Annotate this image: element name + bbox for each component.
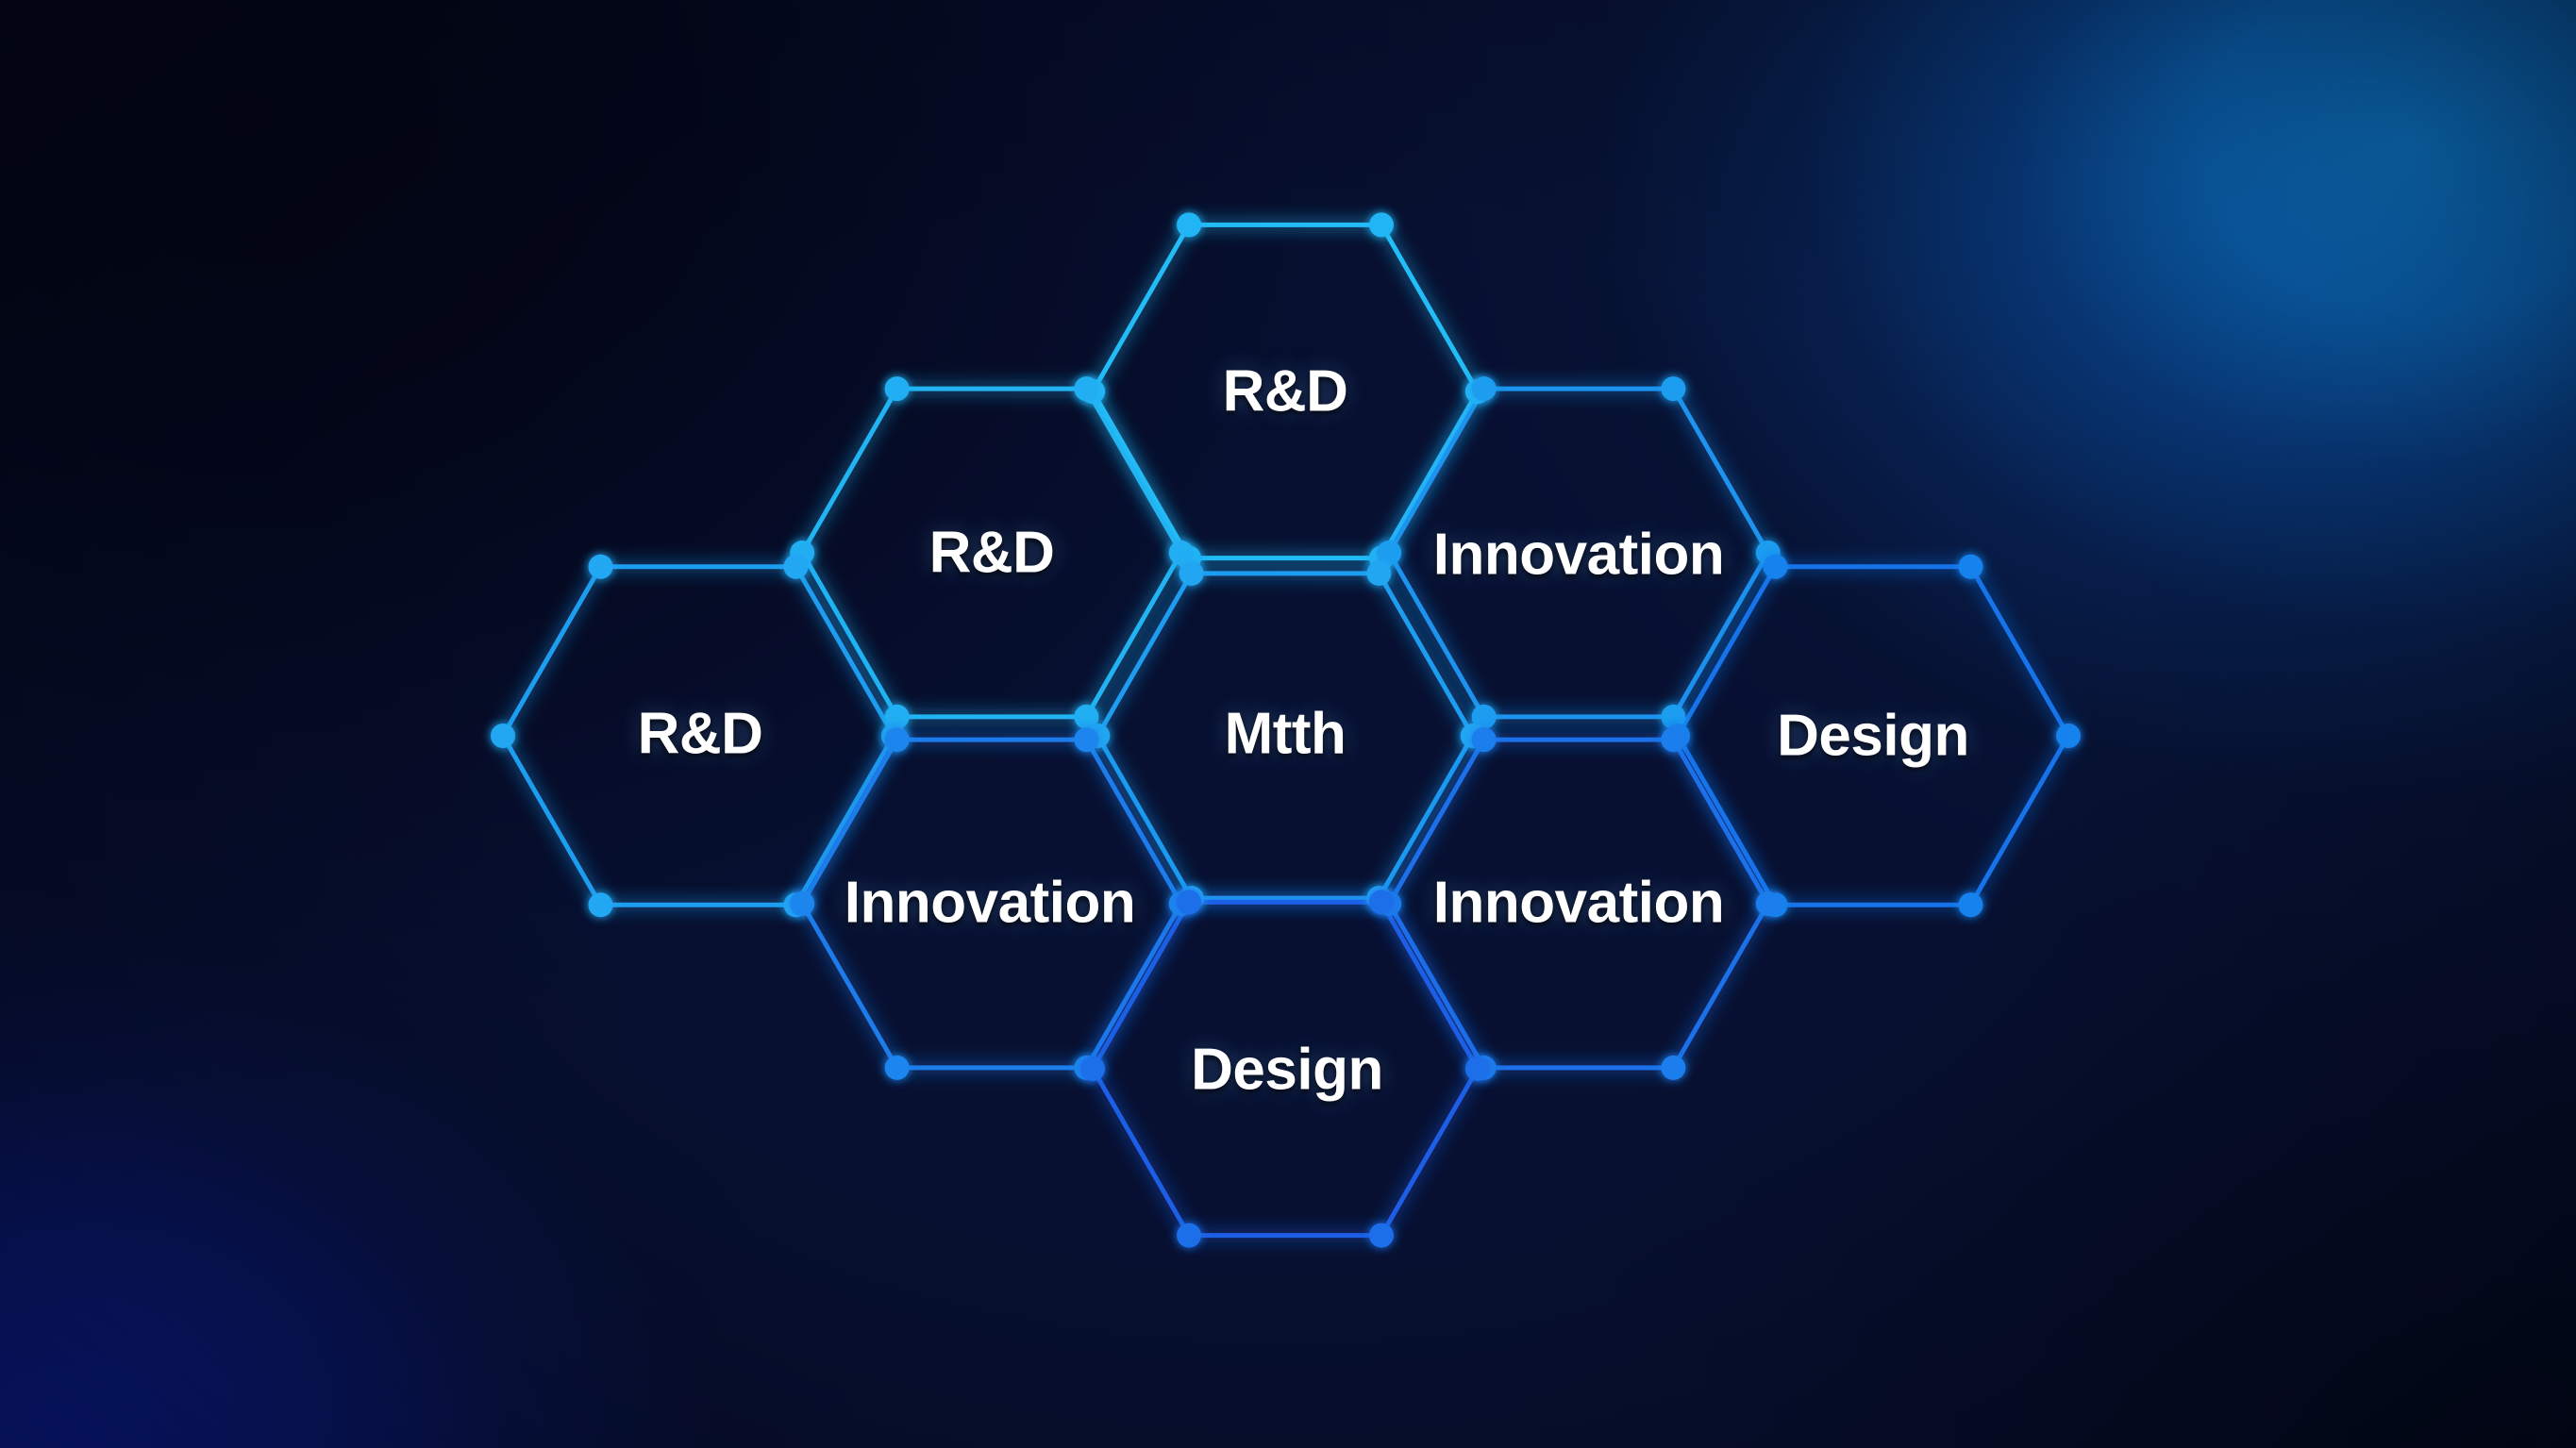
hexagon-vertex-node: [1074, 727, 1098, 752]
hexagon-outline: [1093, 225, 1478, 558]
hexagon-vertex-node: [885, 1056, 910, 1080]
hexagon-vertex-node: [1080, 1057, 1105, 1081]
hexagon-vertex-node: [1366, 561, 1391, 586]
hexagon-vertex-node: [1764, 555, 1788, 579]
hexagon-vertex-node: [1661, 727, 1685, 752]
hexagon-outline: [802, 389, 1181, 717]
hexagon-vertex-node: [1074, 376, 1098, 401]
hexagon-vertex-node: [2056, 724, 2081, 748]
hexagon-vertex-node: [1472, 376, 1497, 401]
hexagon-vertex-node: [589, 555, 613, 579]
hexagon-vertex-node: [1465, 1057, 1490, 1081]
hexagon-network-graphic: R&DR&DInnovationR&DMtthDesignInnovationI…: [0, 0, 2576, 1448]
hexagon-vertex-node: [1369, 1223, 1394, 1248]
hexagon-outline: [1097, 574, 1472, 898]
hexagon-vertex-node: [885, 727, 910, 752]
hexagon-nodes-group: [491, 212, 2081, 1247]
hexagon-vertex-node: [1369, 212, 1394, 237]
hexagon-vertex-node: [885, 376, 910, 401]
hexagon-outlines-group: [503, 225, 2068, 1235]
hexagon-vertex-node: [1959, 892, 1983, 917]
hexagon-outline: [503, 567, 894, 906]
hexagon-vertex-node: [790, 891, 814, 916]
hexagon-vertex-node: [1177, 212, 1201, 237]
hexagon-vertex-node: [1177, 1223, 1201, 1248]
hexagon-vertex-node: [1959, 555, 1983, 579]
hexagon-vertex-node: [491, 724, 515, 748]
hexagon-vertex-node: [1369, 890, 1394, 914]
hexagon-vertex-node: [1661, 1056, 1685, 1080]
hexagon-vertex-node: [1472, 727, 1497, 752]
hexagon-vertex-node: [1756, 891, 1781, 916]
hexagon-vertex-node: [784, 555, 809, 579]
hexagon-vertex-node: [1179, 561, 1204, 586]
hexagon-vertex-node: [589, 892, 613, 917]
hexagon-outline: [1678, 567, 2068, 906]
hexagon-outline: [1389, 389, 1768, 717]
hexagon-vertex-node: [1661, 376, 1685, 401]
hexagon-vertex-node: [1177, 890, 1201, 914]
honeycomb-svg: [0, 0, 2576, 1448]
